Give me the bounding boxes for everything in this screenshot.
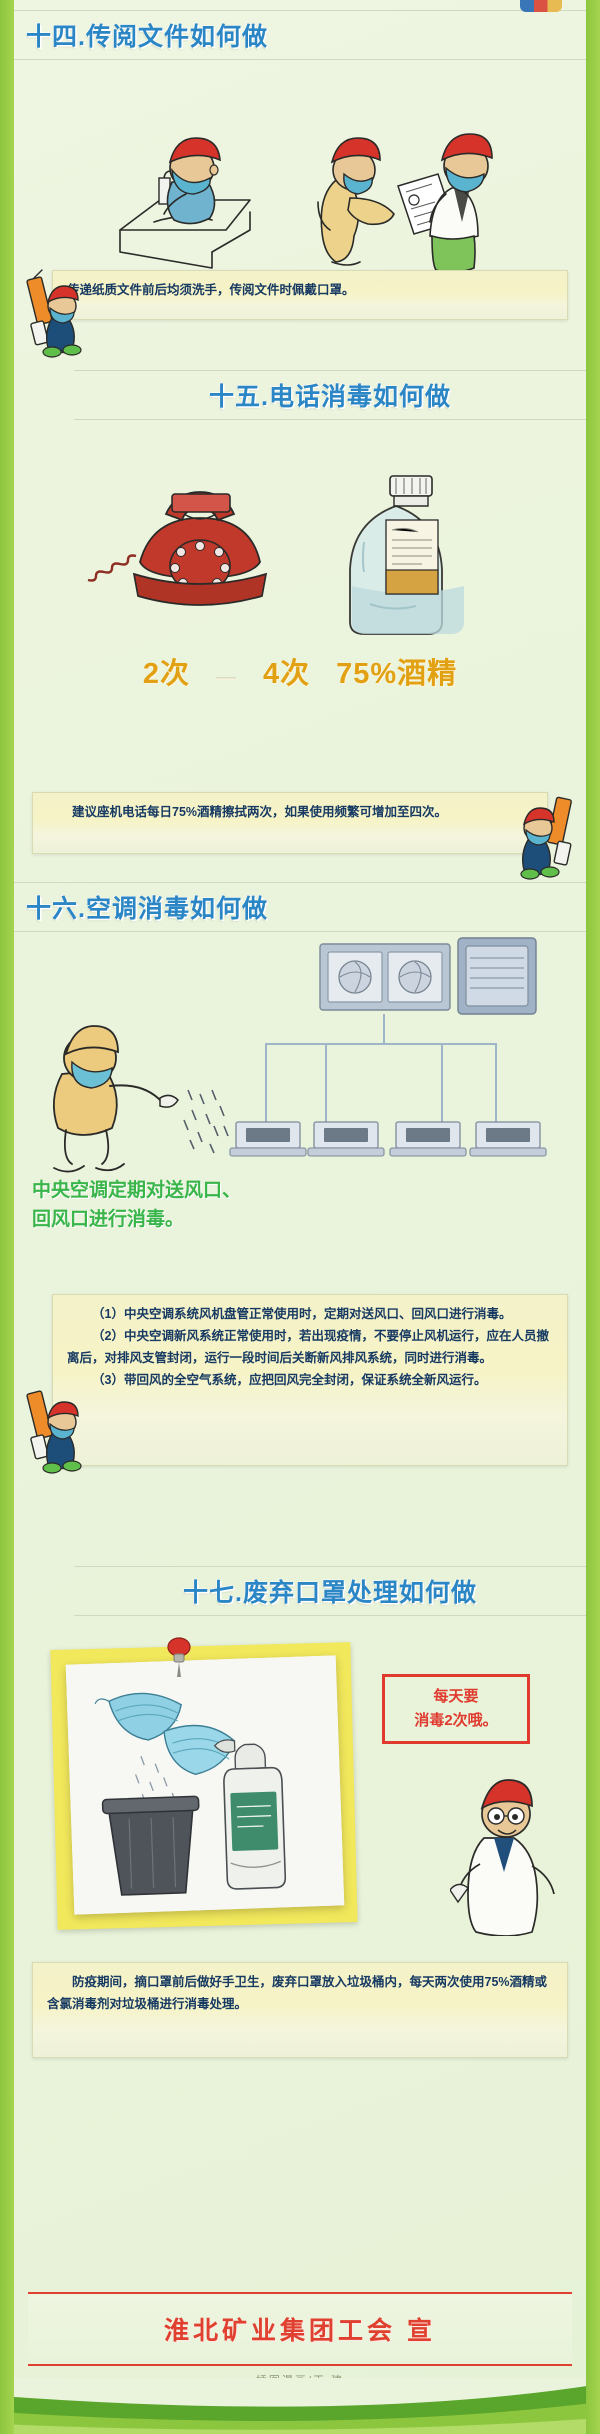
section-15: 十五.电话消毒如何做 xyxy=(14,362,586,862)
section-17-callout: 每天要 消毒2次哦。 xyxy=(382,1674,530,1744)
section-14-note: 传递纸质文件前后均须洗手，传阅文件时佩戴口罩。 xyxy=(52,270,568,320)
ceiling-cassette-unit xyxy=(308,1122,384,1156)
footer-title: 淮北矿业集团工会 宣 xyxy=(164,2311,436,2347)
divider xyxy=(14,59,586,60)
ceiling-cassette-unit xyxy=(470,1122,546,1156)
divider xyxy=(74,1566,586,1567)
big-label-2: 75%酒精 xyxy=(336,650,457,692)
section-16-title: 十六.空调消毒如何做 xyxy=(14,889,586,925)
waste-mask-photo xyxy=(66,1655,345,1914)
duct-lines xyxy=(266,1014,496,1122)
mascot-svg xyxy=(512,784,586,880)
section-16-header: 十六.空调消毒如何做 xyxy=(14,876,586,934)
divider xyxy=(14,882,586,883)
section-17-title: 十七.废弃口罩处理如何做 xyxy=(74,1573,586,1609)
footer-green-swoosh xyxy=(0,2378,600,2434)
hand-line-1: 回风口进行消毒。 xyxy=(32,1205,241,1234)
section-16-hand-text: 中央空调定期对送风口、 回风口进行消毒。 xyxy=(32,1176,241,1235)
right-green-rail xyxy=(586,0,600,2434)
section-15-header: 十五.电话消毒如何做 xyxy=(14,362,586,422)
red-pushpin-icon xyxy=(162,1636,196,1678)
callout-line-0: 每天要 xyxy=(395,1685,517,1709)
doctor-svg xyxy=(450,1766,570,1936)
mask-bin-spray-illustration xyxy=(74,1664,336,1907)
section-14: 十四.传阅文件如何做 xyxy=(14,0,586,360)
note-line: （2）中央空调新风系统正常使用时，若出现疫情，不要停止风机运行，应在人员撤离后，… xyxy=(67,1326,553,1370)
mascot-worker-with-syringe xyxy=(16,1378,90,1474)
top-color-nub xyxy=(520,0,562,12)
mascot-worker-with-syringe xyxy=(16,262,90,358)
spraying-worker xyxy=(54,1026,178,1172)
big-label-1: 4次 xyxy=(263,650,310,692)
divider xyxy=(74,419,586,420)
doctor-figure xyxy=(450,1766,570,1936)
divider xyxy=(14,10,586,11)
section-17-note: 防疫期间，摘口罩前后做好手卫生，废弃口罩放入垃圾桶内，每天两次使用75%酒精或含… xyxy=(32,1962,568,2058)
big-label-0: 2次 xyxy=(143,650,190,692)
telephone-icon xyxy=(88,492,266,605)
section-16-note: （1）中央空调系统风机盘管正常使用时，定期对送风口、回风口进行消毒。 （2）中央… xyxy=(52,1294,568,1466)
telephone-and-alcohol-bottle xyxy=(14,436,586,646)
note-line: 建议座机电话每日75%酒精擦拭两次，如果使用频繁可增加至四次。 xyxy=(47,802,533,824)
ceiling-cassette-unit xyxy=(390,1122,466,1156)
section-14-illustration xyxy=(14,62,586,272)
section-17: 十七.废弃口罩处理如何做 xyxy=(14,1562,586,2262)
ceiling-cassette-unit xyxy=(230,1122,306,1156)
note-line: （3）带回风的全空气系统，应把回风完全封闭，保证系统全新风运行。 xyxy=(67,1370,553,1392)
section-15-big-labels: 2次 — 4次 75%酒精 xyxy=(14,650,586,692)
callout-line-1: 消毒2次哦。 xyxy=(395,1709,517,1733)
alcohol-bottle-icon xyxy=(350,476,464,634)
section-14-title: 十四.传阅文件如何做 xyxy=(14,17,586,53)
infographic-page: 十四.传阅文件如何做 xyxy=(0,0,600,2434)
left-green-rail xyxy=(0,0,14,2434)
section-17-illustration: 每天要 消毒2次哦。 xyxy=(14,1636,586,1966)
section-14-header: 十四.传阅文件如何做 xyxy=(14,0,586,62)
divider xyxy=(14,931,586,932)
spray-droplets xyxy=(184,1090,228,1153)
note-line: 传递纸质文件前后均须洗手，传阅文件时佩戴口罩。 xyxy=(67,280,553,302)
hand-line-0: 中央空调定期对送风口、 xyxy=(32,1176,241,1205)
section-17-header: 十七.废弃口罩处理如何做 xyxy=(14,1562,586,1618)
section-15-illustration xyxy=(14,436,586,646)
mascot-worker-with-syringe xyxy=(512,784,586,880)
divider xyxy=(74,370,586,371)
section-16: 十六.空调消毒如何做 xyxy=(14,876,586,1556)
section-15-title: 十五.电话消毒如何做 xyxy=(74,377,586,413)
label-dash: — xyxy=(216,666,237,689)
mascot-svg xyxy=(16,1378,90,1474)
divider xyxy=(74,1615,586,1616)
note-line: （1）中央空调系统风机盘管正常使用时，定期对送风口、回风口进行消毒。 xyxy=(67,1304,553,1326)
swoosh-svg xyxy=(0,2378,600,2434)
section-15-note: 建议座机电话每日75%酒精擦拭两次，如果使用频繁可增加至四次。 xyxy=(32,792,548,854)
footer-band: 淮北矿业集团工会 宣 xyxy=(28,2292,572,2366)
handwash-and-document-scene xyxy=(14,62,586,272)
pushpin-svg xyxy=(162,1636,196,1678)
content-column: 十四.传阅文件如何做 xyxy=(14,0,586,2434)
mascot-svg xyxy=(16,262,90,358)
note-line: 防疫期间，摘口罩前后做好手卫生，废弃口罩放入垃圾桶内，每天两次使用75%酒精或含… xyxy=(47,1972,553,2016)
